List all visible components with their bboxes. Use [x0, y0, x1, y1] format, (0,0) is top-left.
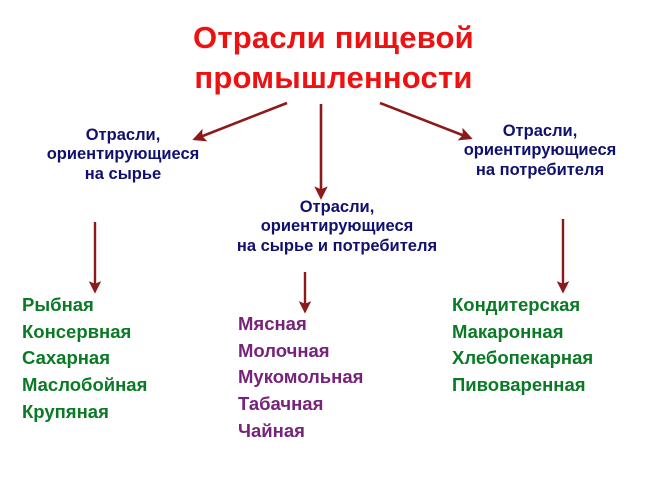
category-label-raw-and-consumer: Отрасли, ориентирующиеся на сырье и потр…	[192, 198, 482, 256]
diagram-canvas: Отрасли пищевой промышленности Отрасли, …	[0, 0, 667, 500]
industry-list-item: Табачная	[238, 391, 443, 418]
industry-list-item: Чайная	[238, 418, 443, 445]
industry-list-item: Крупяная	[22, 399, 232, 426]
industry-list-item: Макаронная	[452, 319, 667, 346]
industry-list-raw-materials: РыбнаяКонсервнаяСахарнаяМаслобойнаяКрупя…	[22, 292, 232, 425]
industry-list-consumer: КондитерскаяМакароннаяХлебопекарнаяПивов…	[452, 292, 667, 399]
industry-list-item: Молочная	[238, 338, 443, 365]
industry-list-item: Мукомольная	[238, 364, 443, 391]
industry-list-item: Сахарная	[22, 345, 232, 372]
industry-list-item: Хлебопекарная	[452, 345, 667, 372]
category-label-consumer: Отрасли, ориентирующиеся на потребителя	[420, 122, 660, 180]
industry-list-item: Кондитерская	[452, 292, 667, 319]
industry-list-item: Маслобойная	[22, 372, 232, 399]
industry-list-item: Пивоваренная	[452, 372, 667, 399]
industry-list-raw-and-consumer: МяснаяМолочнаяМукомольнаяТабачнаяЧайная	[238, 311, 443, 444]
industry-list-item: Консервная	[22, 319, 232, 346]
category-label-raw-materials: Отрасли, ориентирующиеся на сырье	[8, 126, 238, 184]
industry-list-item: Мясная	[238, 311, 443, 338]
industry-list-item: Рыбная	[22, 292, 232, 319]
diagram-title: Отрасли пищевой промышленности	[100, 18, 567, 97]
